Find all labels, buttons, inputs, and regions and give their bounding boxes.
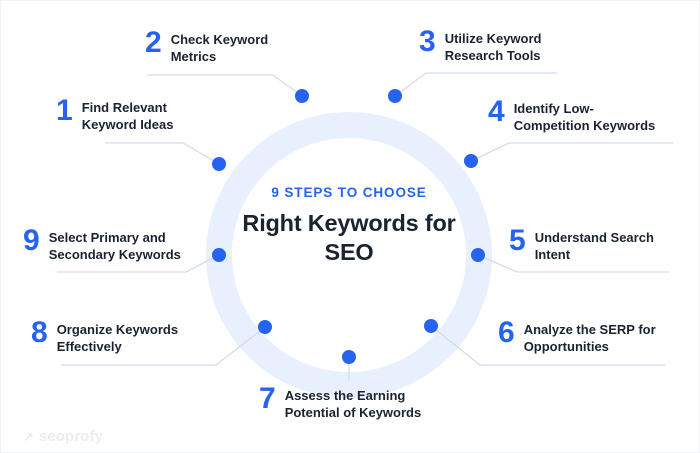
- infographic-canvas: 9 STEPS TO CHOOSE Right Keywords for SEO…: [0, 0, 700, 453]
- step-item-5[interactable]: 5 Understand Search Intent: [509, 229, 654, 264]
- step-label-7: Assess the Earning Potential of Keywords: [285, 387, 422, 422]
- step-item-7[interactable]: 7 Assess the Earning Potential of Keywor…: [259, 387, 421, 422]
- step-label-4: Identify Low- Competition Keywords: [514, 100, 656, 135]
- step-number-4: 4: [488, 98, 505, 126]
- step-number-5: 5: [509, 227, 526, 255]
- step-label-6: Analyze the SERP for Opportunities: [524, 321, 656, 356]
- step-item-2[interactable]: 2 Check Keyword Metrics: [145, 31, 268, 66]
- step-number-7: 7: [259, 385, 276, 413]
- node-dot-1: [212, 157, 226, 171]
- brand-logo: ↗ seoprofy: [23, 429, 103, 444]
- connector-line-3: [395, 73, 557, 96]
- node-dot-5: [471, 248, 485, 262]
- connector-line-2: [147, 75, 302, 96]
- step-item-4[interactable]: 4 Identify Low- Competition Keywords: [488, 100, 655, 135]
- step-number-2: 2: [145, 29, 162, 57]
- step-number-1: 1: [56, 97, 73, 125]
- step-item-8[interactable]: 8 Organize Keywords Effectively: [31, 321, 178, 356]
- node-dot-3: [388, 89, 402, 103]
- step-item-9[interactable]: 9 Select Primary and Secondary Keywords: [23, 229, 181, 264]
- step-item-6[interactable]: 6 Analyze the SERP for Opportunities: [498, 321, 656, 356]
- connector-line-4: [471, 143, 673, 161]
- node-dot-2: [295, 89, 309, 103]
- node-dot-4: [464, 154, 478, 168]
- step-item-1[interactable]: 1 Find Relevant Keyword Ideas: [56, 99, 173, 134]
- brand-name: seoprofy: [39, 429, 103, 444]
- node-dot-8: [258, 320, 272, 334]
- ring-annulus: [219, 125, 479, 385]
- step-number-9: 9: [23, 227, 40, 255]
- node-dot-9: [212, 248, 226, 262]
- step-item-3[interactable]: 3 Utilize Keyword Research Tools: [419, 30, 541, 65]
- node-dot-6: [424, 319, 438, 333]
- arrow-up-right-icon: ↗: [23, 430, 34, 443]
- step-number-8: 8: [31, 319, 48, 347]
- step-label-5: Understand Search Intent: [535, 229, 654, 264]
- step-label-3: Utilize Keyword Research Tools: [445, 30, 542, 65]
- connector-line-1: [105, 143, 219, 164]
- step-label-1: Find Relevant Keyword Ideas: [82, 99, 174, 134]
- step-label-2: Check Keyword Metrics: [171, 31, 269, 66]
- ring-diagram: [1, 1, 700, 453]
- step-number-6: 6: [498, 319, 515, 347]
- step-label-8: Organize Keywords Effectively: [57, 321, 178, 356]
- step-label-9: Select Primary and Secondary Keywords: [49, 229, 181, 264]
- node-dot-7: [342, 350, 356, 364]
- step-number-3: 3: [419, 28, 436, 56]
